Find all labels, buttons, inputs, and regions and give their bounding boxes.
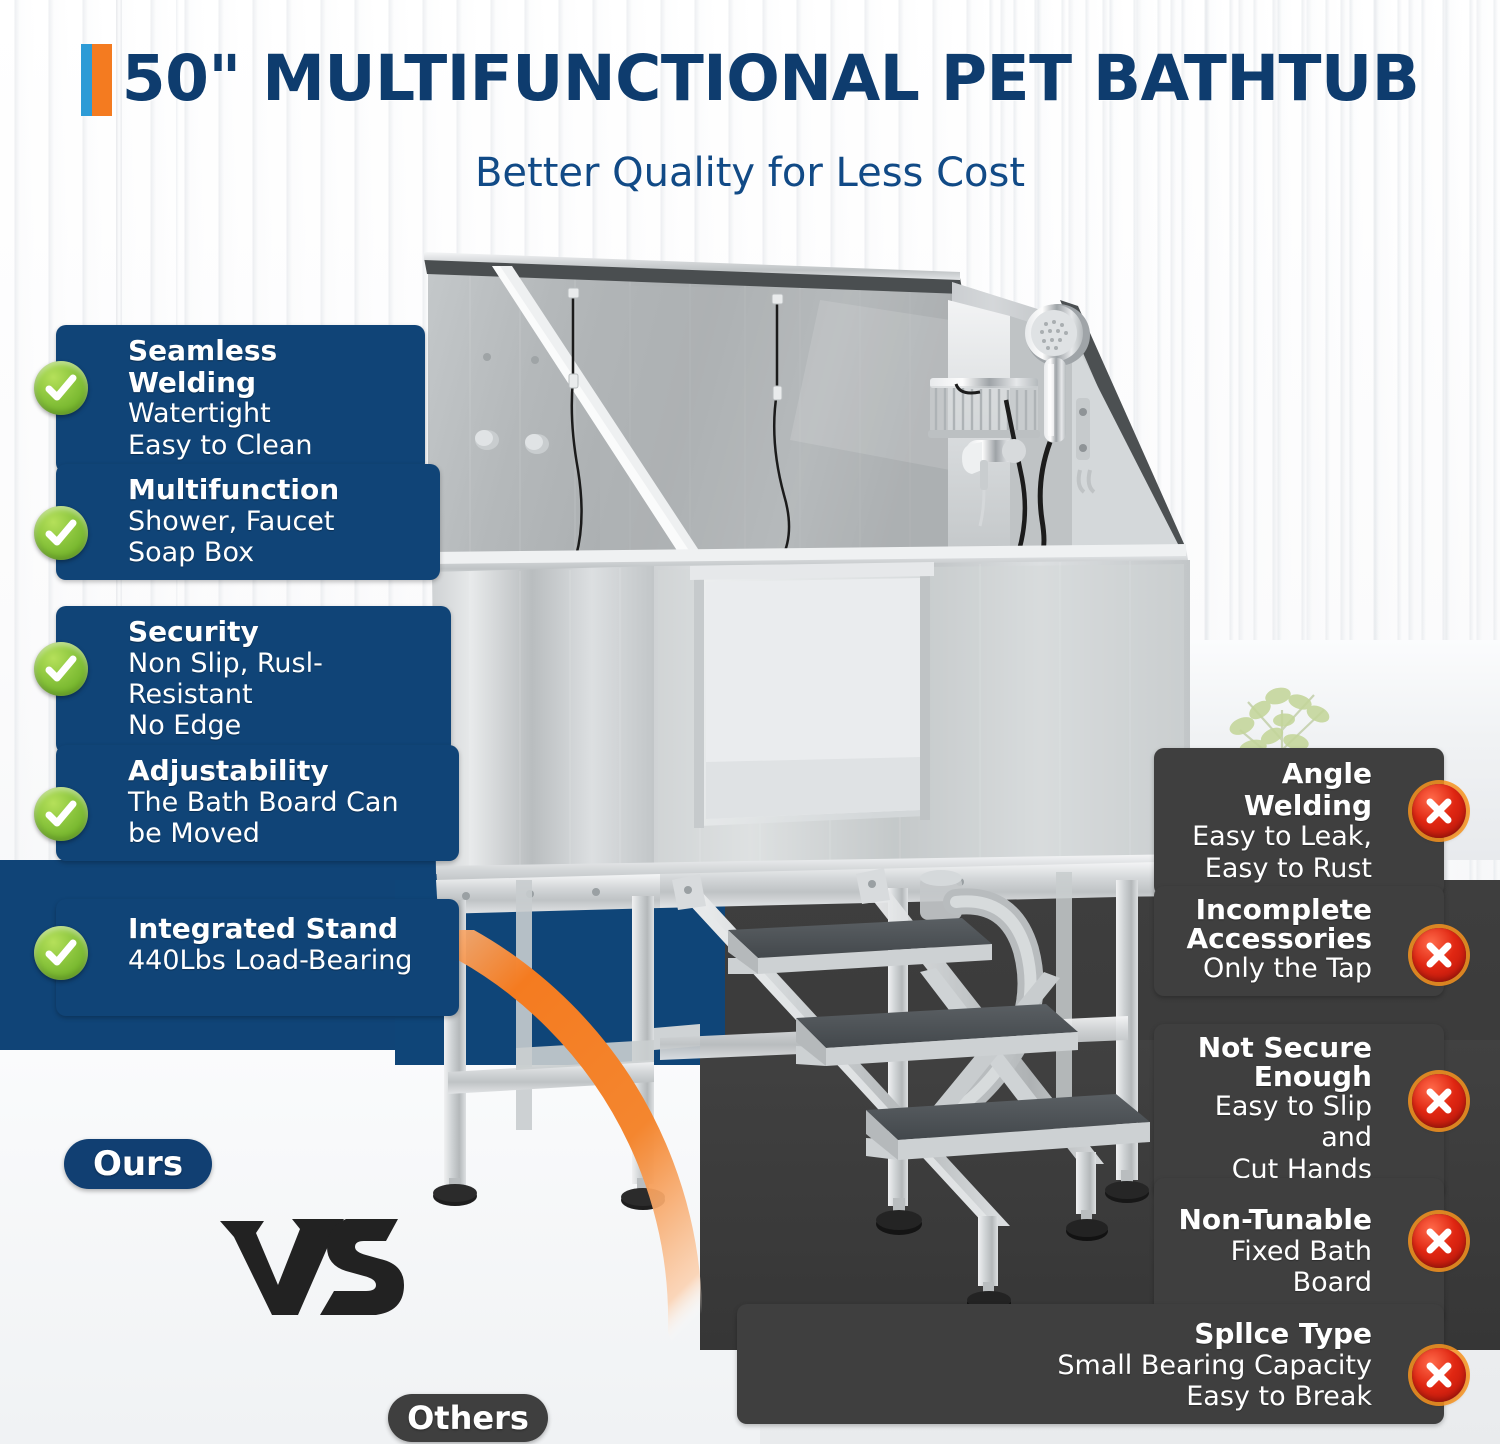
con-badge-2-title: Incomplete Accessories [1170, 896, 1372, 953]
cross-circle-icon [1412, 1348, 1466, 1402]
con-badge-4[interactable]: Non-Tunable Fixed Bath Board [1154, 1178, 1444, 1324]
page-subtitle: Better Quality for Less Cost [0, 150, 1500, 196]
pro-badge-5-title: Integrated Stand [128, 913, 443, 945]
con-badge-1-line-1: Easy to Leak, [1170, 821, 1372, 852]
pro-badge-4-line-2: be Moved [128, 818, 443, 849]
infographic-canvas: 50" MULTIFUNCTIONAL PET BATHTUB Better Q… [0, 0, 1500, 1444]
con-badge-5-line-2: Easy to Break [753, 1381, 1372, 1412]
con-badge-3[interactable]: Not Secure Enough Easy to Slip and Cut H… [1154, 1024, 1444, 1197]
cross-circle-icon [1412, 928, 1466, 982]
check-circle-icon [34, 361, 88, 415]
pro-badge-1-title: Seamless Welding [128, 335, 409, 398]
con-badge-3-title: Not Secure Enough [1170, 1034, 1372, 1091]
cross-circle-icon [1412, 1074, 1466, 1128]
check-circle-icon [34, 926, 88, 980]
con-badge-4-title: Non-Tunable [1170, 1204, 1372, 1236]
others-label: Others [388, 1394, 548, 1442]
cross-circle-icon [1412, 784, 1466, 838]
check-circle-icon [34, 506, 88, 560]
con-badge-4-line-1: Fixed Bath Board [1170, 1236, 1372, 1299]
pro-badge-5-line-1: 440Lbs Load-Bearing [128, 945, 443, 976]
pro-badge-3-title: Security [128, 616, 435, 648]
pro-badge-3-line-1: Non Slip, Rusl-Resistant [128, 648, 435, 711]
pro-badge-2[interactable]: Multifunction Shower, Faucet Soap Box [56, 464, 440, 580]
con-badge-1-title: Angle Welding [1170, 758, 1372, 821]
check-circle-icon [34, 642, 88, 696]
pro-badge-1-line-1: Watertight [128, 398, 409, 429]
vs-logo [216, 1211, 406, 1321]
page-title: 50" MULTIFUNCTIONAL PET BATHTUB [122, 47, 1419, 110]
pro-badge-2-line-1: Shower, Faucet [128, 506, 424, 537]
cross-circle-icon [1412, 1214, 1466, 1268]
page-title-block: 50" MULTIFUNCTIONAL PET BATHTUB [0, 42, 1500, 119]
con-badge-1-line-2: Easy to Rust [1170, 853, 1372, 884]
con-badge-5-title: Spllce Type [753, 1318, 1372, 1350]
pro-badge-4-line-1: The Bath Board Can [128, 787, 443, 818]
pro-badge-1-line-2: Easy to Clean [128, 430, 409, 461]
con-badge-1[interactable]: Angle Welding Easy to Leak, Easy to Rust [1154, 748, 1444, 896]
pro-badge-4[interactable]: Adjustability The Bath Board Can be Move… [56, 745, 459, 861]
title-accent-bar [81, 44, 112, 116]
con-badge-2[interactable]: Incomplete Accessories Only the Tap [1154, 886, 1444, 996]
con-badge-5[interactable]: Spllce Type Small Bearing Capacity Easy … [737, 1304, 1444, 1424]
con-badge-3-line-1: Easy to Slip and [1170, 1091, 1372, 1154]
pro-badge-5[interactable]: Integrated Stand 440Lbs Load-Bearing [56, 899, 459, 1016]
pro-badge-4-title: Adjustability [128, 755, 443, 787]
pro-badge-2-title: Multifunction [128, 474, 424, 506]
pro-badge-3[interactable]: Security Non Slip, Rusl-Resistant No Edg… [56, 606, 451, 754]
con-badge-5-line-1: Small Bearing Capacity [753, 1350, 1372, 1381]
pro-badge-1[interactable]: Seamless Welding Watertight Easy to Clea… [56, 325, 425, 473]
pro-badge-2-line-2: Soap Box [128, 537, 424, 568]
con-badge-2-line-1: Only the Tap [1170, 953, 1372, 984]
check-circle-icon [34, 787, 88, 841]
pro-badge-3-line-2: No Edge [128, 710, 435, 741]
ours-label: Ours [64, 1139, 212, 1189]
